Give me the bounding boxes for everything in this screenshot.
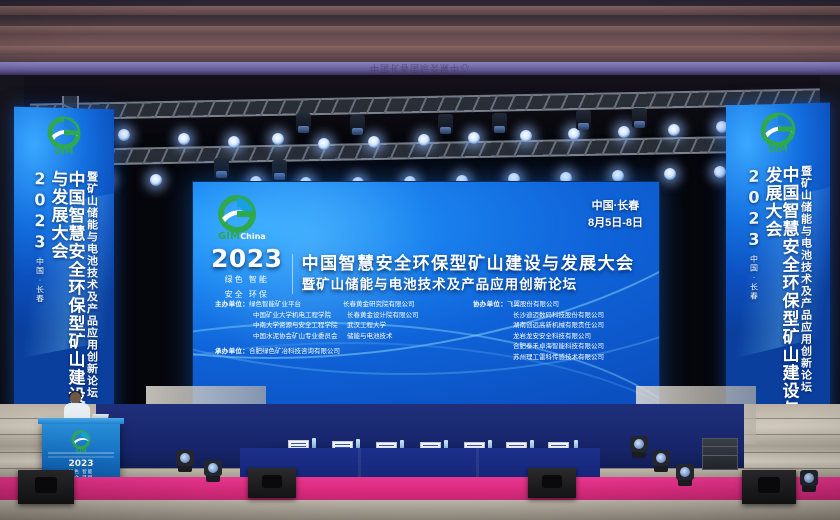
gim-logo-icon: GIM China xyxy=(209,194,267,249)
host-row: 主办单位： 绿色智能矿业平台 长春黄金研究院有限公司 xyxy=(215,300,473,311)
moving-head-light-icon xyxy=(632,108,647,128)
banner-right-year: 2023 xyxy=(746,166,762,250)
organizer-label: 承办单位： xyxy=(215,347,249,358)
co-organizer-item: 湖南创远高新机械有限责任公司 xyxy=(473,321,645,332)
host-col1-item: 中国水泥协会矿山专业委员会 xyxy=(253,332,347,343)
host-row: 中国水泥协会矿山专业委员会 储能与电池技术 xyxy=(215,332,473,343)
co-organizer-item: 龙岩龙安安全科技有限公司 xyxy=(473,332,645,343)
light-lens xyxy=(680,467,690,477)
stage-lamp-icon xyxy=(418,134,430,146)
svg-text:GIM: GIM xyxy=(768,145,788,156)
screen-titles: 中国智慧安全环保型矿山建设与发展大会 暨矿山储能与电池技术及产品应用创新论坛 xyxy=(302,253,645,294)
co-organizer-item: 飞翼股份有限公司 xyxy=(507,300,559,311)
screen-date-block: 中国·长春 8月5日-8日 xyxy=(588,198,643,232)
gim-logo-icon: GIM China xyxy=(40,115,88,163)
screen-main-title: 中国智慧安全环保型矿山建设与发展大会 xyxy=(302,253,645,274)
moving-head-light-icon xyxy=(576,110,591,130)
venue-overhead-sign: 中国长春国际会展中心 xyxy=(140,63,700,75)
host-col1-item: 中南大学资源与安全工程学院 xyxy=(253,321,347,332)
stage-lamp-icon xyxy=(228,136,240,148)
light-lens xyxy=(634,439,644,449)
gim-logo-icon: GIM xyxy=(752,111,804,161)
screen-organizers-block: 主办单位： 绿色智能矿业平台 长春黄金研究院有限公司 中国矿业大学机电工程学院 … xyxy=(215,300,645,363)
svg-text:China: China xyxy=(240,232,265,241)
moving-head-light-icon xyxy=(350,115,365,135)
banner-left-text-columns: 暨矿山储能与电池技术及产品应用创新论坛 中国智慧安全环保型矿山建设与发展大会 2… xyxy=(14,169,114,422)
moving-head-light-icon xyxy=(800,462,818,492)
floor-monitor-speaker xyxy=(528,468,576,498)
ceiling-beam xyxy=(0,26,840,35)
co-organizer-item: 合肥泰禾卓海智能科技有限公司 xyxy=(473,342,645,353)
co-organizer-row: 协办单位： 飞翼股份有限公司 xyxy=(473,300,645,311)
podium-caption-line xyxy=(48,456,114,458)
stage-lamp-icon xyxy=(520,130,532,142)
stage-lamp-icon xyxy=(664,168,676,180)
podium-caption-line xyxy=(48,452,114,454)
light-lens xyxy=(208,463,218,473)
organizer-value: 合肥绿色矿冶科技咨询有限公司 xyxy=(249,347,340,358)
gim-logo-icon: GIM xyxy=(66,430,96,459)
organizers-left-column: 主办单位： 绿色智能矿业平台 长春黄金研究院有限公司 中国矿业大学机电工程学院 … xyxy=(215,300,473,363)
vertical-banner-right: GIM 暨矿山储能与电池技术及产品应用创新论坛 中国智慧安全环保型矿山建设与发展… xyxy=(726,103,830,422)
front-floor xyxy=(0,500,840,520)
light-lens xyxy=(804,473,814,483)
host-label: 主办单位： xyxy=(215,300,249,311)
stage-lamp-icon xyxy=(618,126,630,138)
host-col1-item: 中国矿业大学机电工程学院 xyxy=(253,311,347,322)
co-organizers-column: 协办单位： 飞翼股份有限公司 长沙迪迈数码科技股份有限公司 湖南创远高新机械有限… xyxy=(473,300,645,363)
vertical-banner-left: GIM China 暨矿山储能与电池技术及产品应用创新论坛 中国智慧安全环保型矿… xyxy=(14,107,114,422)
host-col2-item: 长春黄金设计院有限公司 xyxy=(347,311,419,322)
screen-year: 2023 xyxy=(211,246,283,271)
stage-lamp-icon xyxy=(178,133,190,145)
banner-left-year: 2023 xyxy=(32,169,48,253)
moving-head-light-icon xyxy=(630,428,648,458)
banner-left-subtitle: 暨矿山储能与电池技术及产品应用创新论坛 xyxy=(86,171,97,421)
ceiling-beam xyxy=(0,46,840,55)
moving-head-light-icon xyxy=(296,113,311,133)
banner-right-text-columns: 暨矿山储能与电池技术及产品应用创新论坛 中国智慧安全环保型矿山建设与发展大会 2… xyxy=(726,165,830,422)
moving-head-light-icon xyxy=(438,114,453,134)
moving-head-light-icon xyxy=(676,456,694,486)
host-row: 中南大学资源与安全工程学院 武汉工程大学 xyxy=(215,321,473,332)
podium-year: 2023 xyxy=(42,460,120,470)
stage-lamp-icon xyxy=(118,129,130,141)
stage-lamp-icon xyxy=(318,138,330,150)
light-lens xyxy=(180,453,190,463)
co-organizer-item: 长沙迪迈数码科技股份有限公司 xyxy=(473,311,645,322)
water-bottle xyxy=(312,438,316,448)
floor-monitor-speaker xyxy=(18,470,74,504)
banner-left-city: 中国·长春 xyxy=(36,257,44,303)
banner-right-subtitle: 暨矿山储能与电池技术及产品应用创新论坛 xyxy=(800,165,811,419)
stage-lamp-icon xyxy=(468,132,480,144)
banner-right-title: 中国智慧安全环保型矿山建设与发展大会 xyxy=(764,165,798,420)
screen-slogan-line1: 绿色 智能 xyxy=(211,274,283,286)
moving-head-light-icon xyxy=(214,158,229,178)
stage-lamp-icon xyxy=(150,174,162,186)
moving-head-light-icon xyxy=(492,113,507,133)
conference-stage-photo: 中国长春国际会展中心 xyxy=(0,0,840,520)
host-row: 中国矿业大学机电工程学院 长春黄金设计院有限公司 xyxy=(215,311,473,322)
floor-monitor-speaker xyxy=(248,468,296,498)
organizer-row: 承办单位： 合肥绿色矿冶科技咨询有限公司 xyxy=(215,347,473,358)
host-col2-item: 长春黄金研究院有限公司 xyxy=(343,300,415,311)
screen-title-row: 2023 绿色 智能 安全 环保 中国智慧安全环保型矿山建设与发展大会 暨矿山储… xyxy=(211,246,645,301)
host-col1-item: 绿色智能矿业平台 xyxy=(249,300,343,311)
moving-head-light-icon xyxy=(204,452,222,482)
moving-head-light-icon xyxy=(652,442,670,472)
light-lens xyxy=(656,453,666,463)
svg-text:GIM: GIM xyxy=(218,231,240,242)
stage-lamp-icon xyxy=(368,136,380,148)
moving-head-light-icon xyxy=(272,160,287,180)
floor-monitor-speaker xyxy=(742,470,796,504)
ceiling-beam xyxy=(0,6,840,15)
hall-ceiling: 中国长春国际会展中心 xyxy=(0,0,840,78)
stage-lamp-icon xyxy=(668,124,680,136)
host-col2-item: 武汉工程大学 xyxy=(347,321,386,332)
moving-head-light-icon xyxy=(176,442,194,472)
screen-date-range: 8月5日-8日 xyxy=(588,215,643,232)
co-organizer-label: 协办单位： xyxy=(473,300,507,311)
screen-city: 中国·长春 xyxy=(588,198,643,215)
banner-right-city: 中国·长春 xyxy=(750,255,758,301)
co-organizer-item: 苏州理工雷科传感技术有限公司 xyxy=(473,353,645,364)
screen-year-block: 2023 绿色 智能 安全 环保 xyxy=(211,246,283,301)
screen-sub-title: 暨矿山储能与电池技术及产品应用创新论坛 xyxy=(302,276,645,294)
podium-top-surface xyxy=(38,418,124,424)
stage-lamp-icon xyxy=(272,133,284,145)
banner-left-title: 中国智慧安全环保型矿山建设与发展大会 xyxy=(50,170,84,421)
equipment-road-case xyxy=(702,438,738,470)
title-divider xyxy=(292,254,293,294)
stage-lamp-icon xyxy=(714,166,726,178)
host-col2-item: 储能与电池技术 xyxy=(347,332,393,343)
